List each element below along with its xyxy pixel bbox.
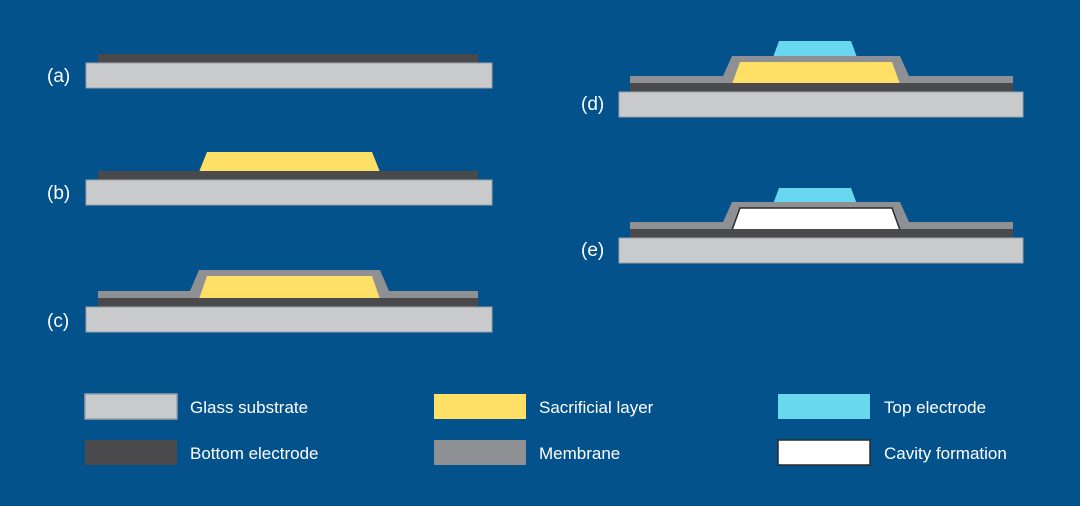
legend-swatch-top-electrode <box>778 394 870 419</box>
panel-b-label: (b) <box>47 183 70 204</box>
panel-d-sacrificial-layer <box>732 62 900 84</box>
legend-swatch-cavity-formation <box>778 440 870 465</box>
panel-d-glass-substrate <box>619 92 1023 117</box>
panel-b-sacrificial-layer <box>199 152 380 172</box>
panel-e-glass-substrate <box>619 238 1023 263</box>
panel-d-label: (d) <box>581 94 604 115</box>
legend-label-sacrificial-layer: Sacrificial layer <box>539 398 654 417</box>
panel-c-label: (c) <box>47 311 69 332</box>
legend-item-cavity-formation: Cavity formation <box>778 440 1007 465</box>
panel-a-glass-substrate <box>86 63 492 88</box>
legend-label-cavity-formation: Cavity formation <box>884 444 1007 463</box>
legend-item-glass-substrate: Glass substrate <box>85 394 308 419</box>
legend-label-membrane: Membrane <box>539 444 620 463</box>
legend-swatch-membrane <box>434 440 526 465</box>
panel-a: (a) <box>47 54 492 88</box>
legend-label-glass-substrate: Glass substrate <box>190 398 308 417</box>
panel-e-cavity <box>732 208 900 230</box>
panel-e-label: (e) <box>581 240 604 261</box>
fabrication-process-figure: (a) (b) (c) (d) (e) <box>0 0 1080 506</box>
legend-label-top-electrode: Top electrode <box>884 398 986 417</box>
panel-c-glass-substrate <box>86 307 492 332</box>
panel-b-glass-substrate <box>86 180 492 205</box>
process-diagram-canvas: (a) (b) (c) (d) (e) <box>0 0 1080 506</box>
legend-swatch-glass-substrate <box>85 394 177 419</box>
legend-swatch-sacrificial-layer <box>434 394 526 419</box>
panel-c-sacrificial-layer <box>199 276 380 299</box>
panel-a-label: (a) <box>47 66 70 87</box>
legend-item-sacrificial-layer: Sacrificial layer <box>434 394 654 419</box>
legend-label-bottom-electrode: Bottom electrode <box>190 444 319 463</box>
legend-item-bottom-electrode: Bottom electrode <box>85 440 319 465</box>
legend-swatch-bottom-electrode <box>85 440 177 465</box>
